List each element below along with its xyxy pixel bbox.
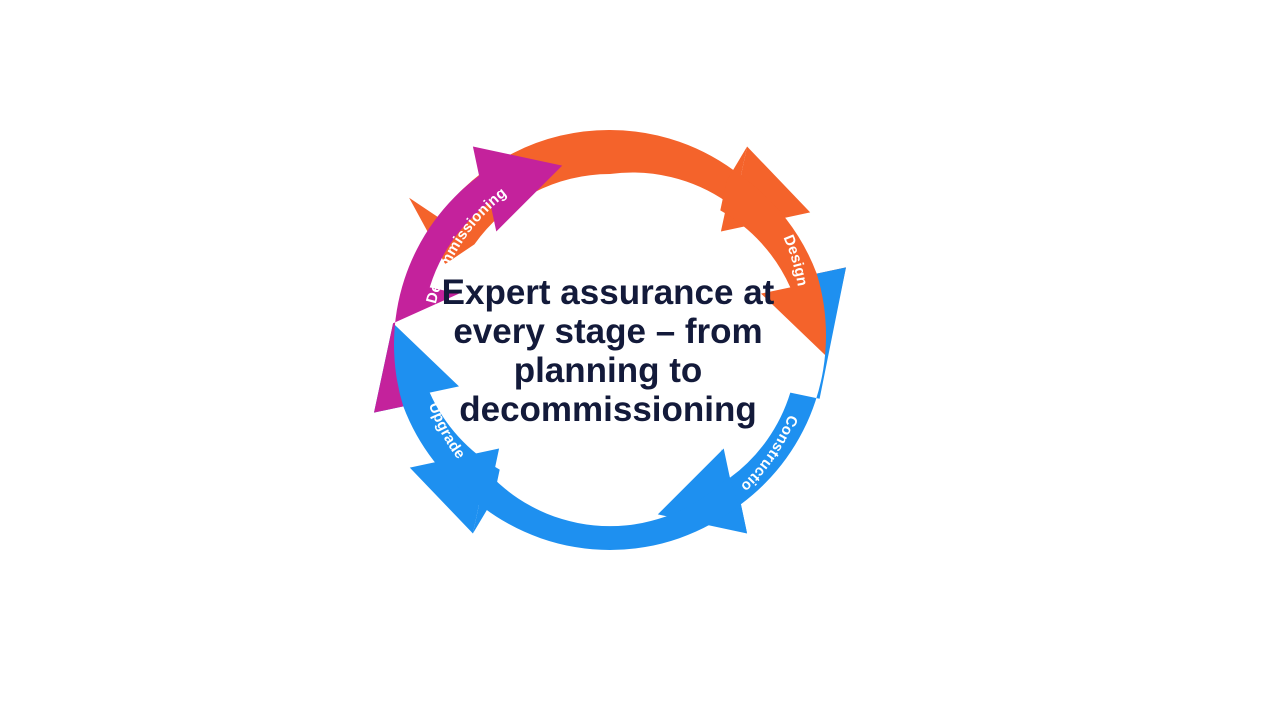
center-text-block: Expert assurance at every stage – from p…: [442, 273, 775, 429]
center-text-line-1: Expert assurance at: [442, 273, 775, 312]
diagram-canvas: Planning Design Construction: [0, 0, 1280, 720]
center-text-line-3: planning to: [514, 351, 703, 390]
center-text-line-4: decommissioning: [459, 390, 757, 429]
cycle-diagram: Planning Design Construction: [0, 0, 1280, 720]
center-text-line-2: every stage – from: [453, 312, 762, 351]
segment-label-operation: Operation: [618, 555, 692, 587]
segment-label-planning: Planning: [576, 85, 645, 105]
